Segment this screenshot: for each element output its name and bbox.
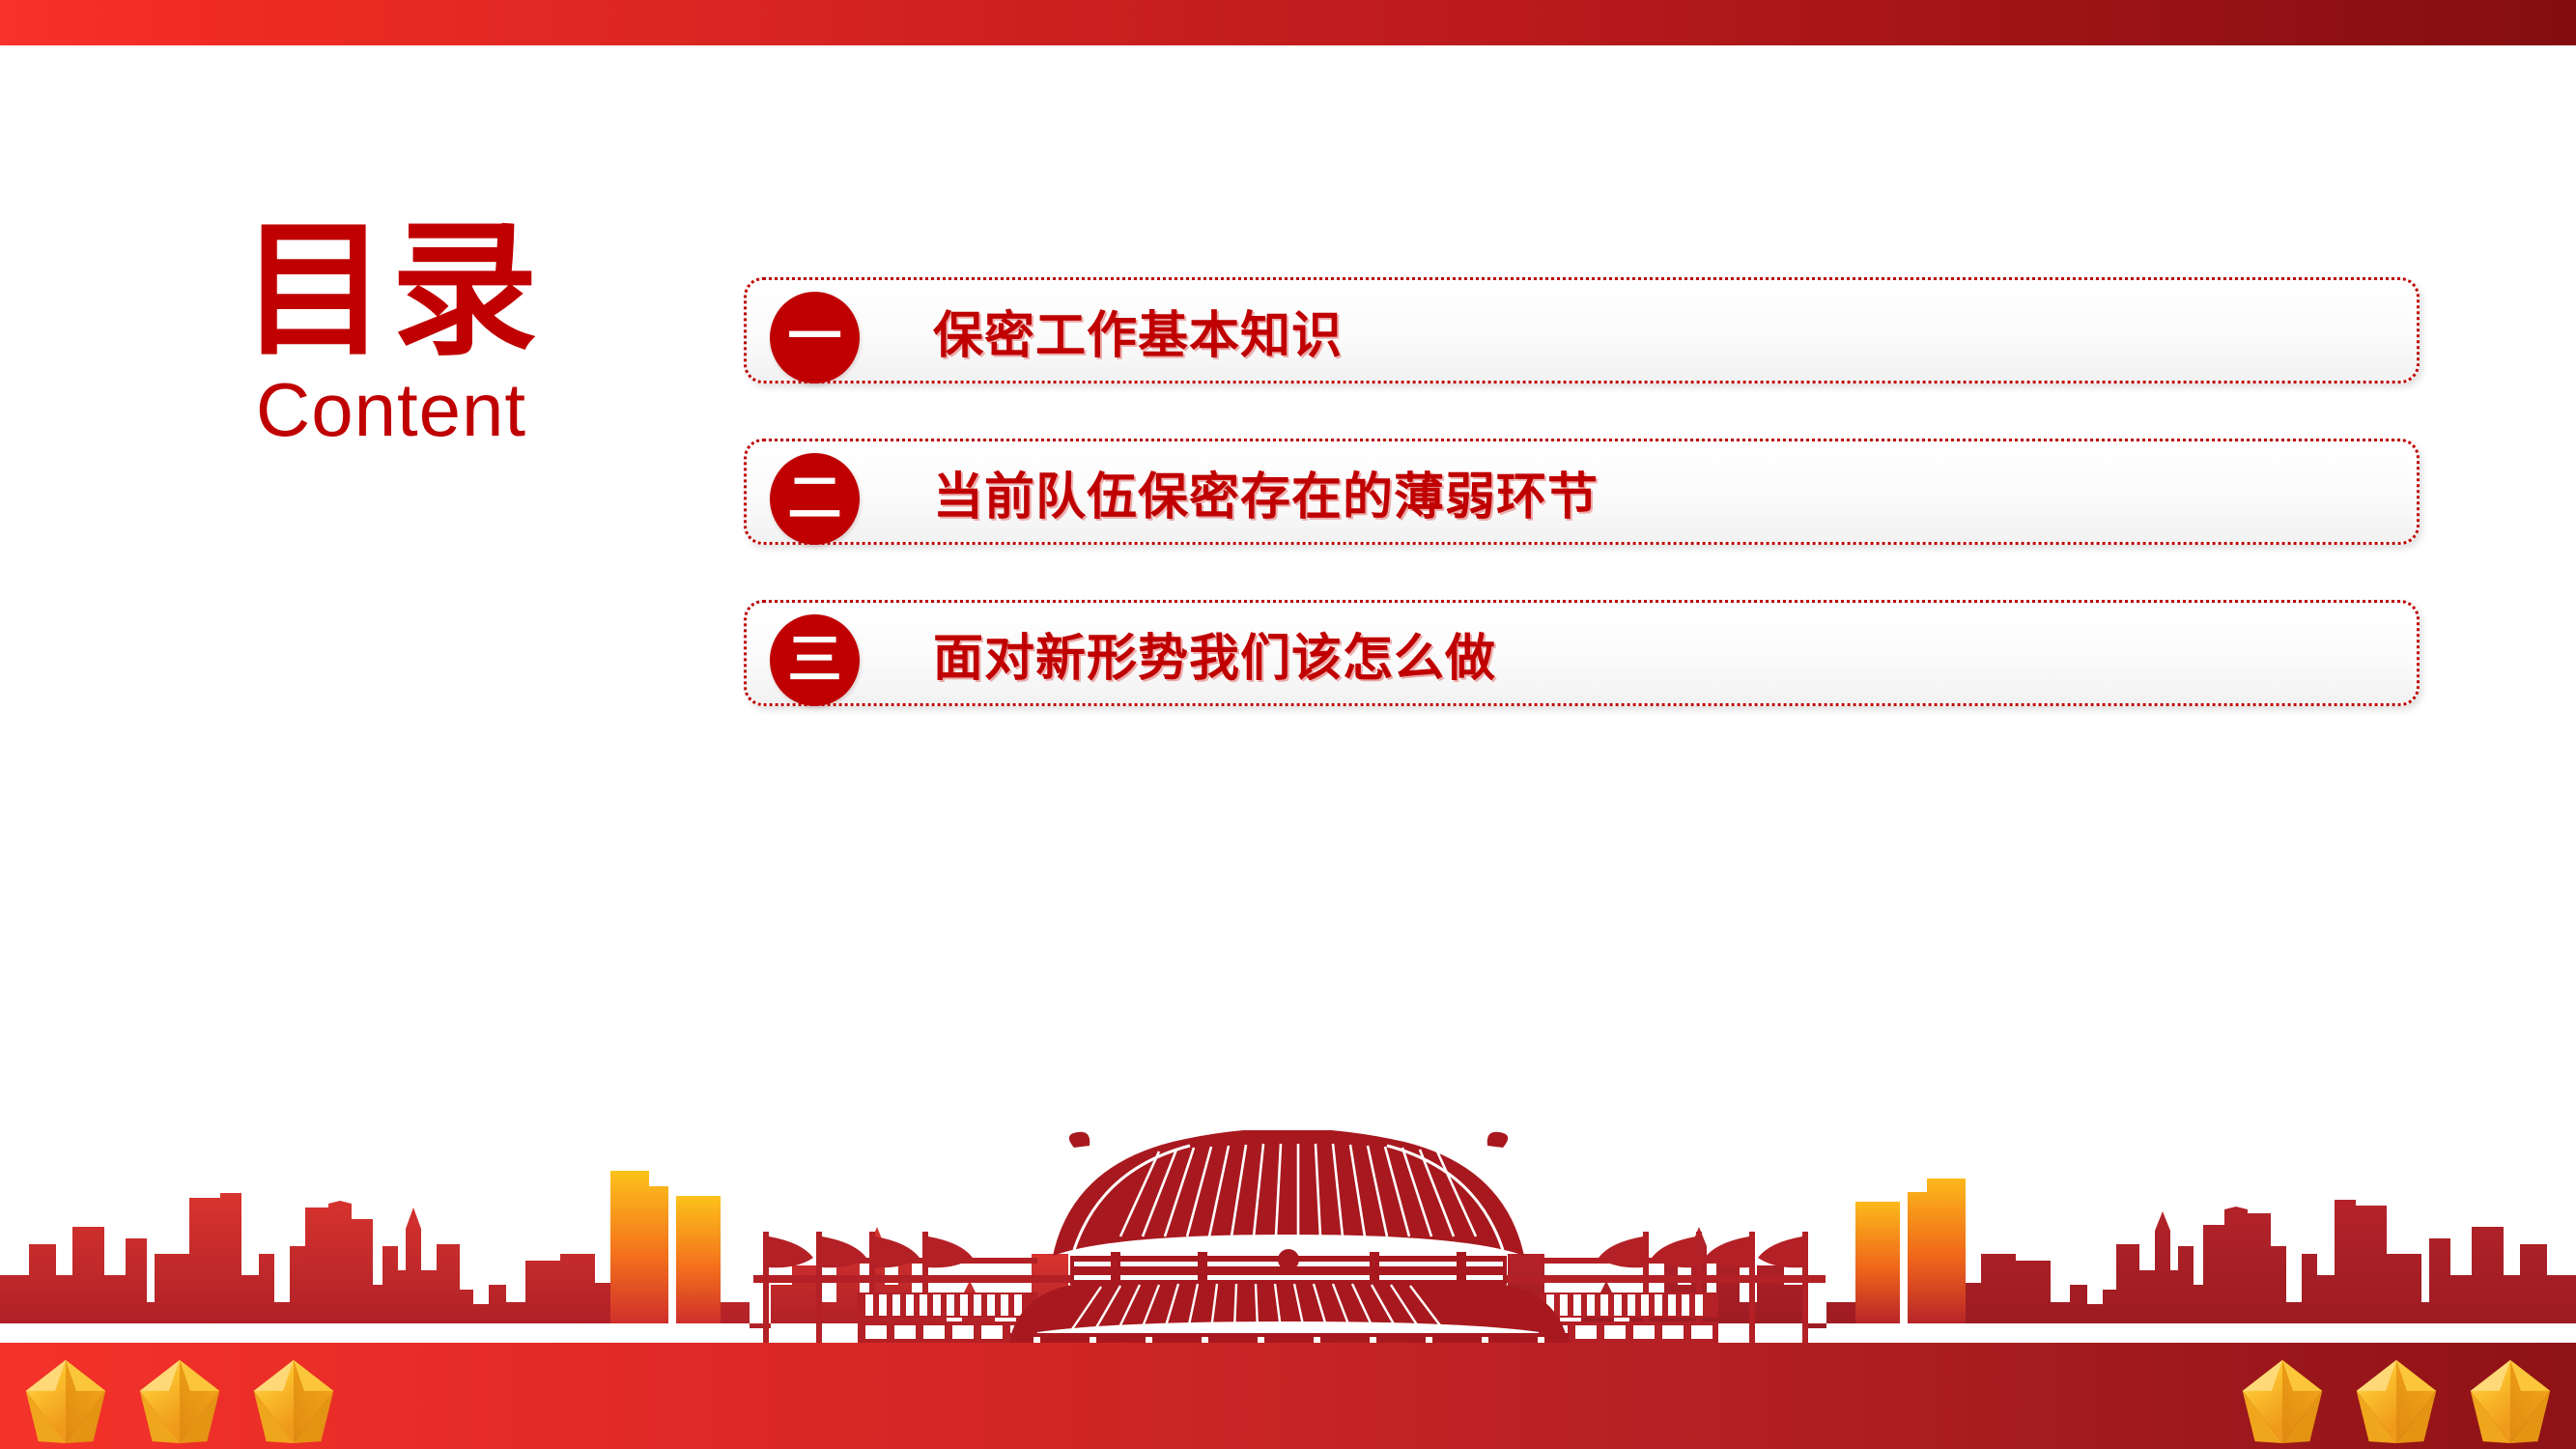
bottom-decoration: 中华人民共和国万岁 世界人民大团结万岁 xyxy=(0,1130,2576,1449)
top-red-banner xyxy=(0,0,2576,45)
toc-index-badge-3: 三 xyxy=(770,614,860,706)
stars-right xyxy=(2243,1360,2551,1443)
toc-item-3[interactable]: 三 面对新形势我们该怎么做 xyxy=(744,600,2420,706)
gate-upper-roof xyxy=(1053,1130,1524,1256)
page-title-cn: 目录 xyxy=(184,217,599,364)
stars-left xyxy=(26,1360,334,1443)
page-title-en: Content xyxy=(184,372,599,447)
toc-item-label-3: 面对新形势我们该怎么做 xyxy=(933,600,1496,706)
toc-item-2[interactable]: 二 当前队伍保密存在的薄弱环节 xyxy=(744,439,2420,545)
toc-item-label-1: 保密工作基本知识 xyxy=(933,277,1343,384)
slide-canvas: 目录 Content 一 保密工作基本知识 二 当前队伍保密存在的薄弱环节 三 … xyxy=(0,0,2576,1449)
toc-index-badge-1: 一 xyxy=(770,292,860,384)
gate-lower-roof xyxy=(1010,1283,1567,1337)
toc-index-badge-2: 二 xyxy=(770,453,860,545)
table-of-contents: 一 保密工作基本知识 二 当前队伍保密存在的薄弱环节 三 面对新形势我们该怎么做 xyxy=(744,277,2420,761)
toc-item-1[interactable]: 一 保密工作基本知识 xyxy=(744,277,2420,384)
toc-item-label-2: 当前队伍保密存在的薄弱环节 xyxy=(933,439,1599,545)
gate-balcony xyxy=(1070,1249,1507,1287)
bottom-red-band xyxy=(0,1343,2576,1449)
page-title: 目录 Content xyxy=(184,217,599,447)
